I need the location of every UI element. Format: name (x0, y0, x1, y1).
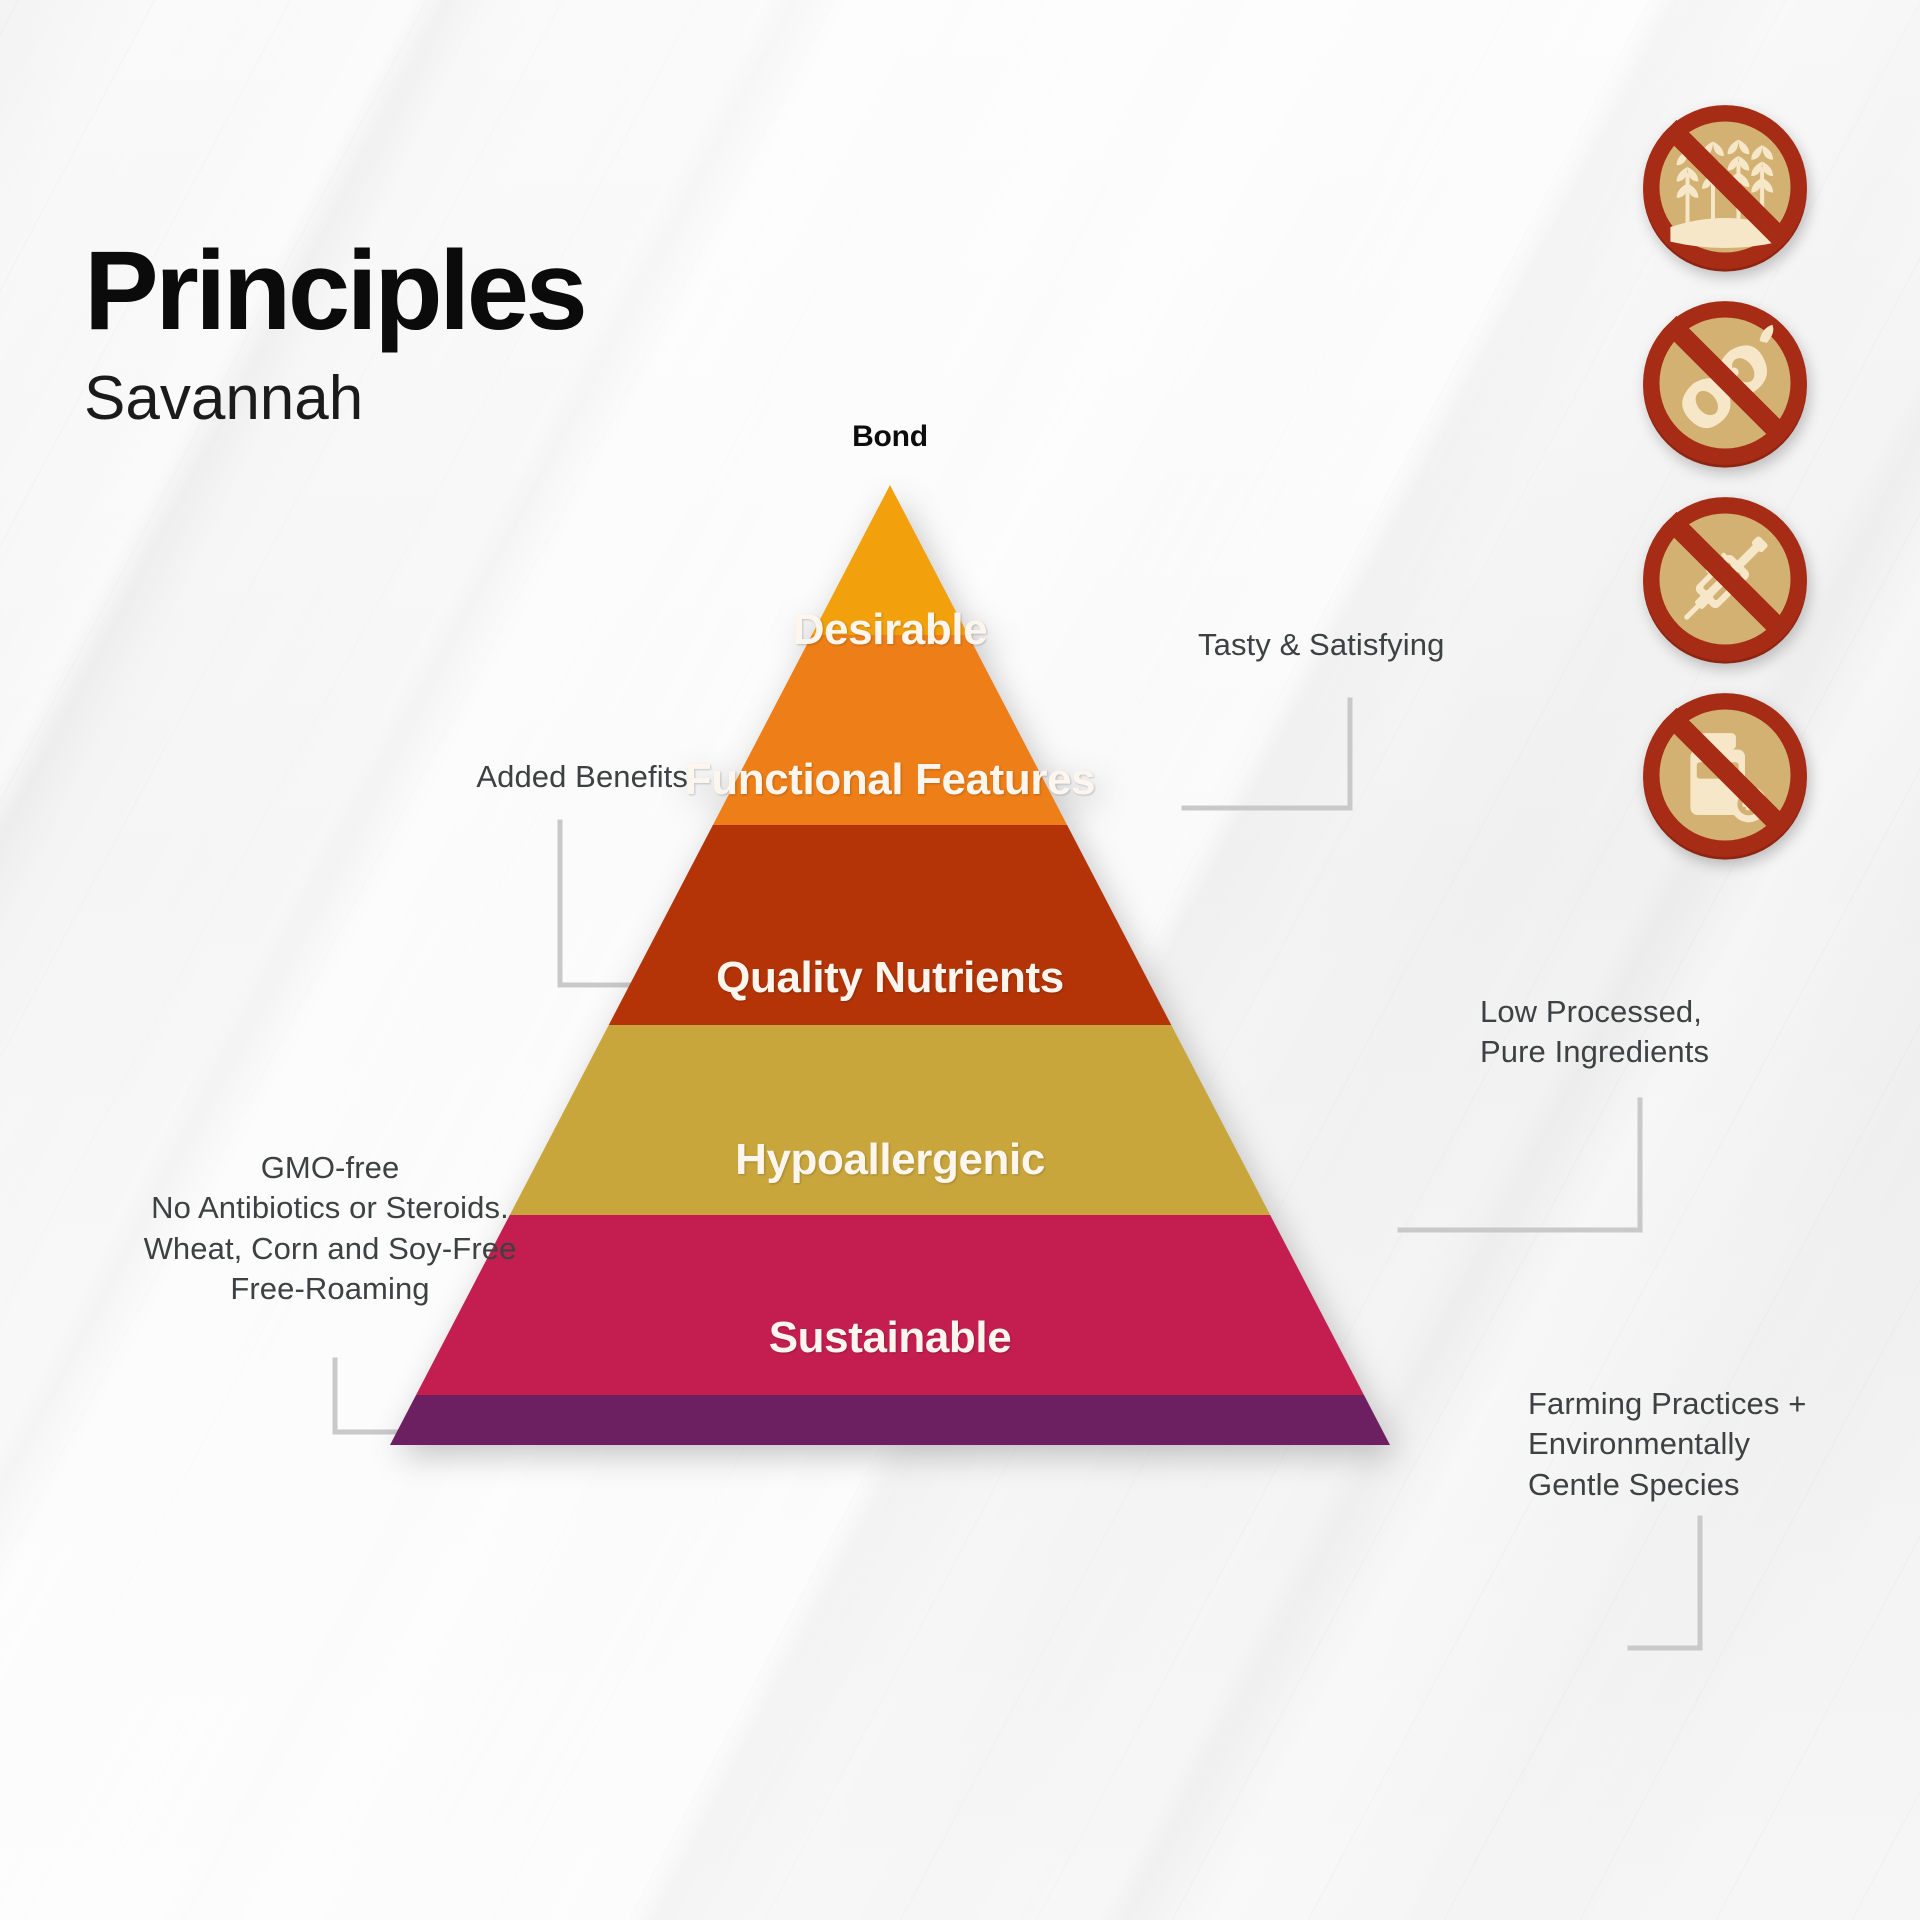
title-block: Principles Savannah (84, 238, 584, 430)
pyramid-tier-sustainable (390, 1395, 1390, 1445)
no-additives-badge (1634, 684, 1816, 866)
pyramid-tier-apex (390, 485, 1390, 635)
no-grain-badge (1634, 96, 1816, 278)
callout-added-benefits: Added Benefits (398, 757, 688, 797)
callout-low-processed-pure-ingredients: Low Processed, Pure Ingredients (1480, 992, 1709, 1073)
callout-farming-practices: Farming Practices + Environmentally Gent… (1528, 1384, 1806, 1505)
no-soy-badge (1634, 292, 1816, 474)
callout-gmo-free: GMO-free No Antibiotics or Steroids. Whe… (85, 1148, 575, 1309)
pyramid-apex-label: Bond (390, 420, 1390, 454)
pyramid-tier-functional (390, 825, 1390, 1025)
callout-tasty-satisfying: Tasty & Satisfying (1198, 625, 1444, 665)
no-hormones-badge (1634, 488, 1816, 670)
page-title: Principles (84, 238, 584, 344)
infographic-canvas: Principles Savannah Bond (0, 0, 1920, 1920)
badge-column (1634, 96, 1816, 866)
